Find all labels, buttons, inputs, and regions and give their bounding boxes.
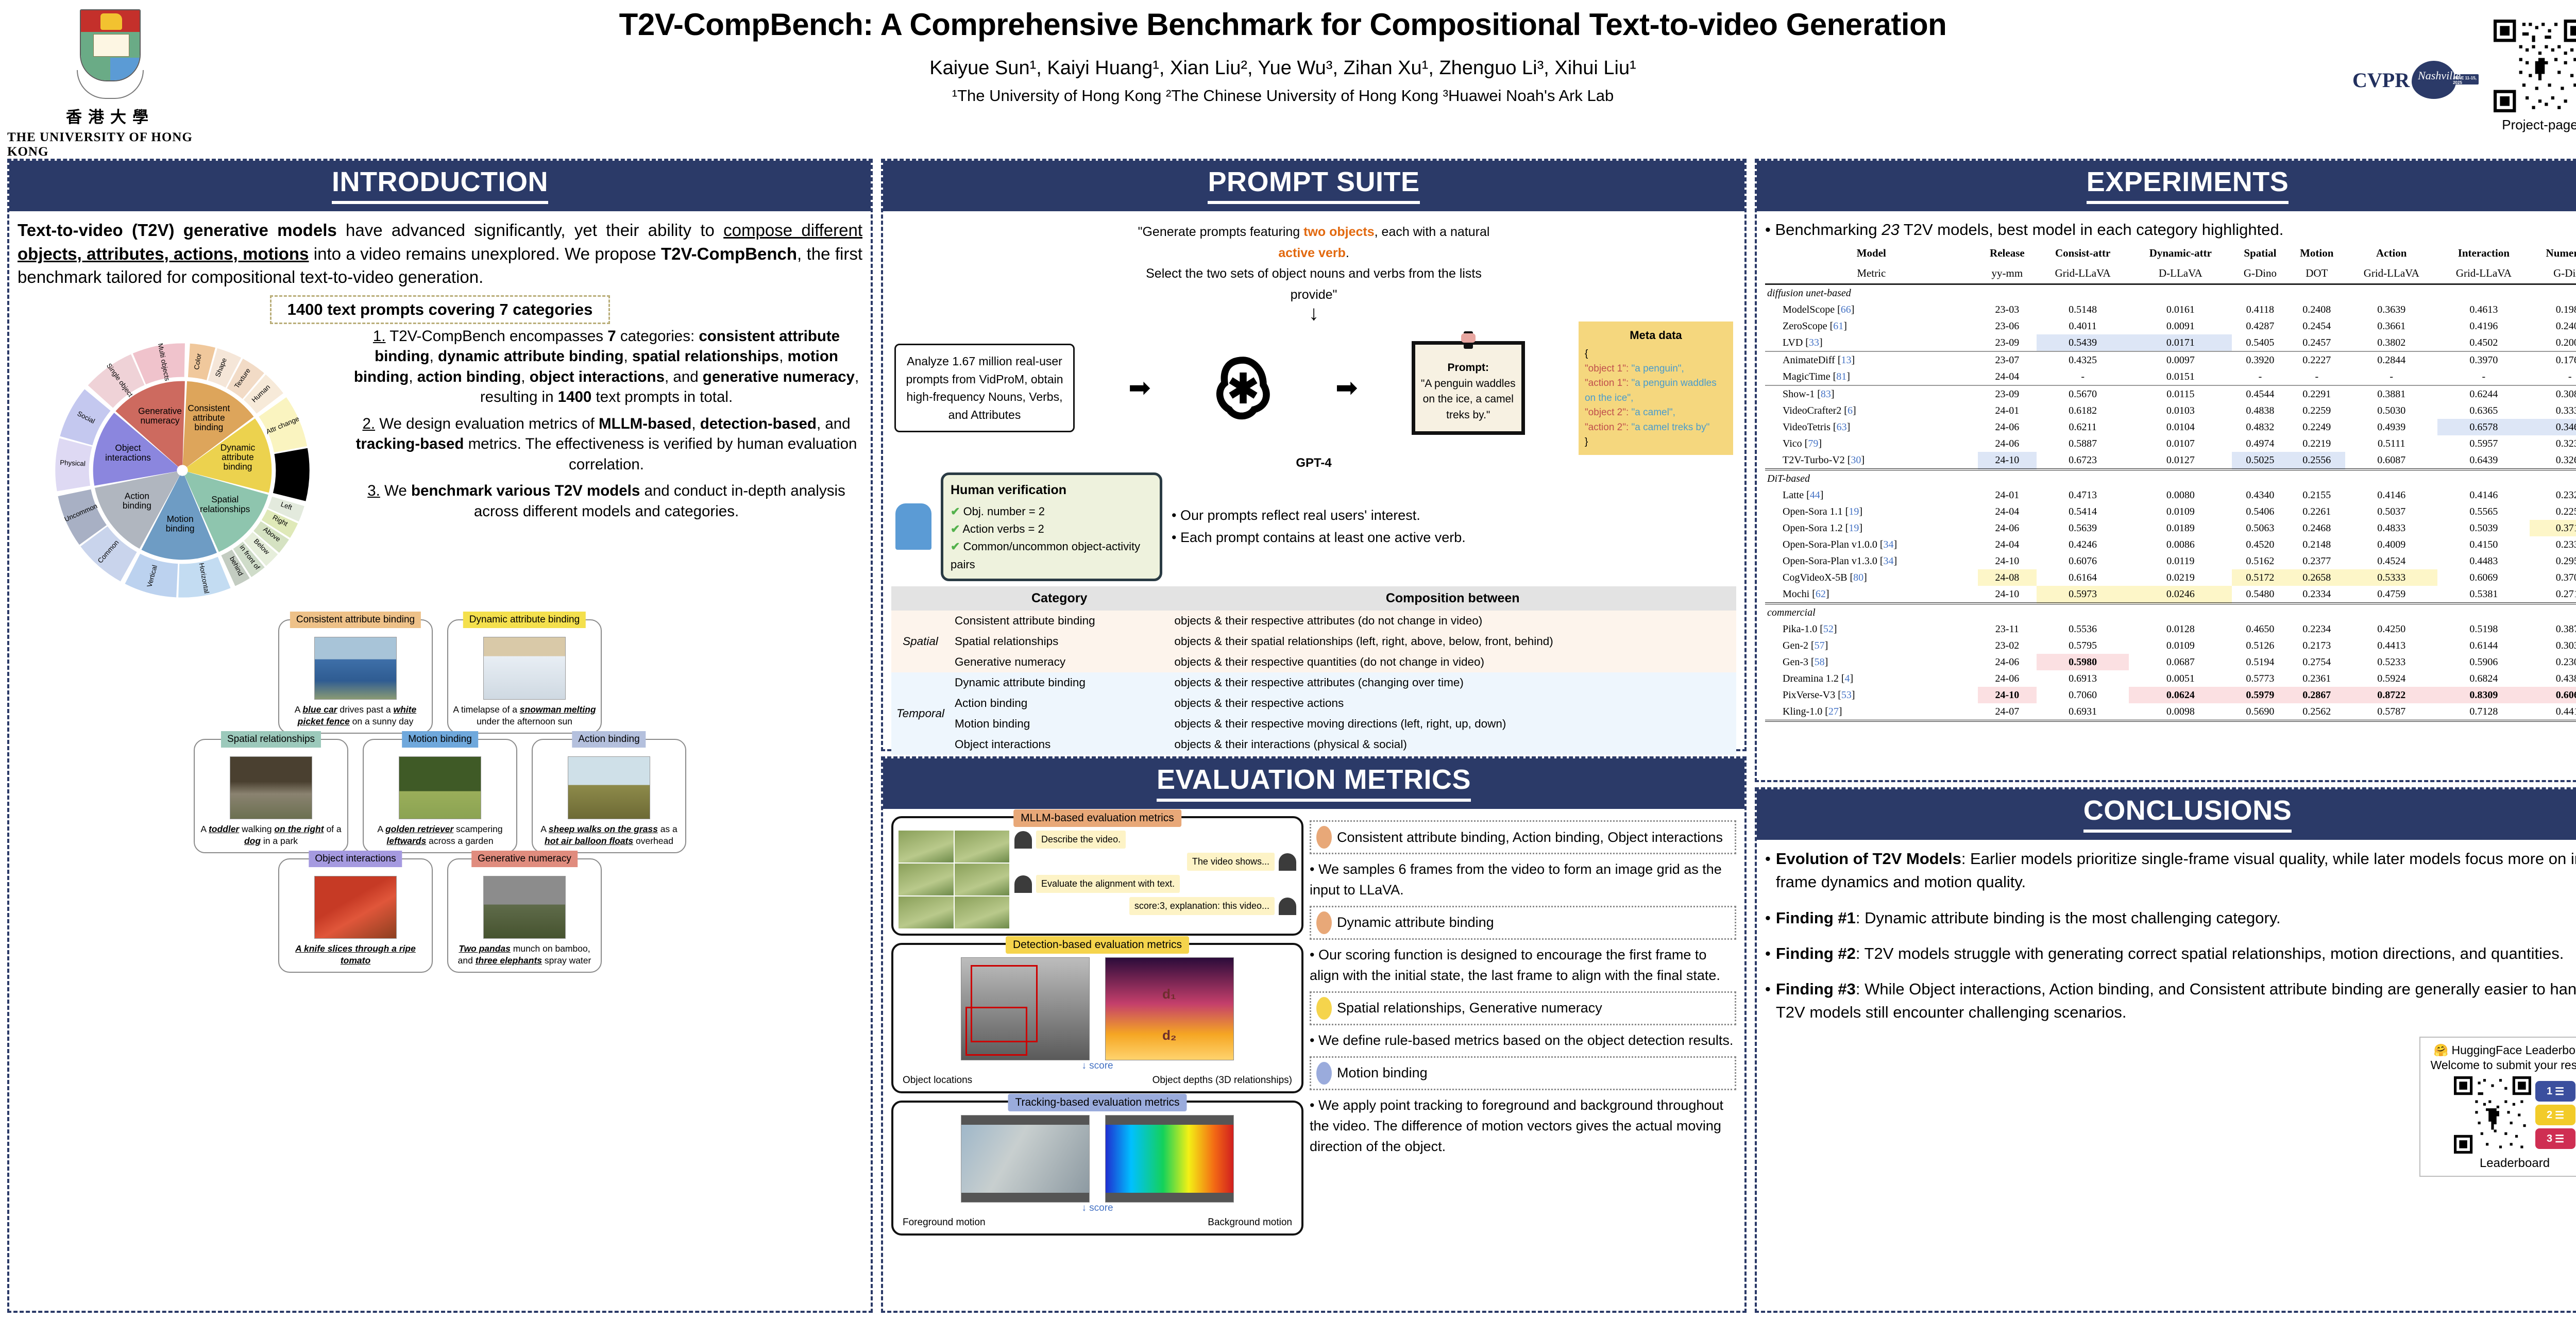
table-cell-score: 0.6931 — [2037, 703, 2129, 721]
example-card: Motion binding A golden retriever scampe… — [363, 739, 517, 853]
example-card-image — [314, 876, 397, 939]
table-cell-model: Vico [79] — [1765, 435, 1978, 452]
table-cell-score: - — [2037, 368, 2129, 385]
table-cell-model: VideoCrafter2 [6] — [1765, 402, 1978, 419]
table-cell-score: 0.3970 — [2437, 351, 2530, 368]
table-cell-category: Dynamic attribute binding — [950, 672, 1169, 693]
prompt-card-text: "A penguin waddles on the ice, a camel t… — [1420, 376, 1516, 423]
chat-bubble: Evaluate the alignment with text. — [1036, 875, 1180, 893]
table-row: SpatialConsistent attribute bindingobjec… — [891, 611, 1736, 631]
table-cell-score: 0.2219 — [2288, 435, 2345, 452]
depth-label-d2: d₂ — [1162, 1027, 1176, 1043]
metric-name: Metric — [1765, 263, 1978, 284]
metric-name: DOT — [2288, 263, 2345, 284]
section-experiments: EXPERIMENTS • Benchmarking 23 T2V models… — [1755, 159, 2576, 782]
table-cell-score: 0.0119 — [2129, 553, 2232, 569]
table-cell-composition: objects & their respective actions — [1169, 693, 1736, 714]
table-cell-score: 0.6182 — [2037, 402, 2129, 419]
column-header: Spatial — [2232, 243, 2288, 263]
example-card-tag: Consistent attribute binding — [290, 612, 421, 628]
leaderboard-card[interactable]: 🤗 HuggingFace Leaderboard: Welcome to su… — [2419, 1037, 2576, 1177]
verify-item-label-2: Action verbs = 2 — [962, 522, 1044, 535]
table-cell-score: 0.8309 — [2437, 687, 2530, 703]
table-cell-score: 0.3086 — [2530, 385, 2576, 402]
evaluation-metrics-header: EVALUATION METRICS — [883, 758, 1744, 809]
intro-middle-row: ConsistentattributebindingDynamicattribu… — [18, 326, 862, 617]
table-group-label: Temporal — [891, 672, 950, 755]
reference-number: 57 — [1815, 640, 1825, 651]
category-composition-table: Category Composition between SpatialCons… — [891, 586, 1736, 755]
table-cell-score: 0.1986 — [2530, 301, 2576, 318]
table-cell-score: 0.5333 — [2345, 569, 2437, 586]
benchmark-results-table: ModelReleaseConsist-attrDynamic-attrSpat… — [1765, 243, 2576, 722]
table-cell-score: 0.6087 — [2345, 452, 2437, 469]
verify-item-label-3: Common/uncommon object-activity pairs — [951, 540, 1140, 570]
table-cell-score: 0.5773 — [2232, 670, 2288, 687]
table-cell-score: 24-10 — [1978, 553, 2037, 569]
table-cell-score: 0.2658 — [2288, 569, 2345, 586]
table-cell-score: 0.2261 — [2288, 503, 2345, 520]
table-cell-score: 0.2291 — [2288, 385, 2345, 402]
meta-value: "a penguin", — [1632, 363, 1684, 374]
caption-background-motion: Background motion — [1208, 1217, 1292, 1228]
human-verification-card: Human verification ✔ Obj. number = 2 ✔ A… — [941, 472, 1162, 581]
table-cell-score: 0.3330 — [2530, 402, 2576, 419]
table-cell-score: 0.6824 — [2437, 670, 2530, 687]
example-card-tag: Dynamic attribute binding — [463, 612, 586, 628]
table-group-label: diffusion unet-based — [1765, 284, 2576, 302]
reference-number: 62 — [1816, 588, 1826, 600]
meta-value: "a camel", — [1632, 407, 1675, 418]
table-cell-score: 0.6578 — [2437, 419, 2530, 435]
frame-grid-image — [899, 831, 1009, 928]
qr-code-icon[interactable] — [2494, 20, 2576, 112]
table-group-label: Spatial — [891, 611, 950, 672]
hku-logo: 香港大學 THE UNIVERSITY OF HONG KONG — [7, 4, 213, 159]
table-cell-score: 24-08 — [1978, 569, 2037, 586]
table-cell-score: 0.0109 — [2129, 503, 2232, 520]
hku-name-english: THE UNIVERSITY OF HONG KONG — [7, 130, 213, 159]
conclusion-text: Evolution of T2V Models: Earlier models … — [1776, 847, 2576, 894]
cvpr-date-label: JUNE 11-15, 2025 — [2453, 76, 2479, 85]
reference-number: 63 — [1837, 421, 1847, 433]
reference-number: 80 — [1853, 572, 1863, 583]
table-cell-model: T2V-Turbo-V2 [30] — [1765, 452, 1978, 469]
caption-foreground-motion: Foreground motion — [903, 1217, 986, 1228]
table-row: Object interactionsobjects & their inter… — [891, 734, 1736, 755]
reference-number: 4 — [1845, 673, 1850, 684]
example-card-caption: A golden retriever scampering leftwards … — [368, 823, 512, 847]
table-cell-score: 24-06 — [1978, 520, 2037, 536]
bullet-text-a: Benchmarking — [1775, 221, 1882, 239]
example-card-image — [399, 756, 481, 819]
table-row: Pika-1.0 [52]23-110.55360.01280.46500.22… — [1765, 621, 2576, 637]
quote-highlight-verb: active verb — [1278, 246, 1346, 260]
table-row: AnimateDiff [13]23-070.43250.00970.39200… — [1765, 351, 2576, 368]
poster-root: 香港大學 THE UNIVERSITY OF HONG KONG T2V-Com… — [0, 0, 2576, 1319]
table-cell-score: 0.2754 — [2288, 654, 2345, 670]
example-card-caption: Two pandas munch on bamboo, and three el… — [452, 943, 597, 967]
table-cell-score: 0.4325 — [2037, 351, 2129, 368]
chat-bubble: The video shows... — [1187, 853, 1275, 871]
leaderboard-title-line1: HuggingFace Leaderboard: — [2451, 1043, 2576, 1057]
table-row: MagicTime [81]24-04-0.0151----- — [1765, 368, 2576, 385]
prompt-count-badge: 1400 text prompts covering 7 categories — [270, 295, 610, 324]
chat-bubbles: Describe the video. The video shows... E… — [1014, 831, 1296, 928]
category-color-dot — [1316, 997, 1332, 1020]
column-header: Action — [2345, 243, 2437, 263]
cvpr-logo: CVPR Nashville JUNE 11-15, 2025 — [2352, 20, 2486, 99]
table-cell-score: 0.3261 — [2530, 452, 2576, 469]
table-cell-score: 0.4118 — [2232, 301, 2288, 318]
intro-underline-1: compose different — [723, 221, 862, 240]
section-evaluation-metrics: EVALUATION METRICS MLLM-based evaluation… — [881, 756, 1747, 1313]
table-cell-score: 0.3230 — [2530, 435, 2576, 452]
caption-object-locations: Object locations — [903, 1075, 972, 1086]
table-cell-score: 0.2844 — [2345, 351, 2437, 368]
table-cell-score: 24-06 — [1978, 419, 2037, 435]
reference-number: 83 — [1821, 388, 1831, 400]
sunburst-inner-label: Generativenumeracy — [138, 405, 182, 426]
table-cell-score: 0.6164 — [2037, 569, 2129, 586]
metric-category-pill: Motion binding — [1310, 1056, 1736, 1090]
conclusion-label: Finding #2 — [1776, 944, 1856, 962]
category-color-dot — [1316, 826, 1332, 849]
category-sunburst-chart: ConsistentattributebindingDynamicattribu… — [18, 326, 347, 617]
table-cell-score: 0.2718 — [2530, 586, 2576, 603]
list-item: 3. We benchmark various T2V models and c… — [350, 481, 862, 521]
hku-name-chinese: 香港大學 — [66, 104, 155, 127]
table-cell-model: Latte [44] — [1765, 487, 1978, 503]
table-cell-score: 0.6723 — [2037, 452, 2129, 469]
metric-bullet: • We samples 6 frames from the video to … — [1310, 859, 1736, 901]
table-cell-score: 0.4544 — [2232, 385, 2288, 402]
table-cell-score: 0.5148 — [2037, 301, 2129, 318]
table-cell-score: 23-02 — [1978, 637, 2037, 654]
meta-data-lines: "object 1": "a penguin","action 1": "a p… — [1585, 362, 1727, 435]
chat-bubble: Describe the video. — [1036, 831, 1126, 849]
example-card-tag: Motion binding — [402, 731, 478, 748]
table-cell-score: 0.3467 — [2530, 419, 2576, 435]
medal-rank-1: 1☰ — [2535, 1081, 2575, 1102]
mllm-chat-demo: Describe the video. The video shows... E… — [899, 831, 1296, 928]
table-cell-category: Generative numeracy — [950, 652, 1169, 672]
reference-number: 27 — [1828, 706, 1839, 717]
table-cell-score: 0.5111 — [2345, 435, 2437, 452]
check-icon: ✔ — [951, 505, 960, 518]
table-row: Open-Sora 1.1 [19]24-040.54140.01090.540… — [1765, 503, 2576, 520]
table-row: LVD [33]23-090.54390.01710.54050.24570.3… — [1765, 334, 2576, 351]
medal-label-2: 2 — [2547, 1109, 2552, 1121]
table-cell-score: 0.2457 — [2288, 334, 2345, 351]
example-card-image — [568, 756, 650, 819]
prompt-suite-title: PROMPT SUITE — [1208, 166, 1419, 204]
table-cell-score: 0.4246 — [2037, 536, 2129, 553]
table-cell-score: 0.4613 — [2437, 301, 2530, 318]
table-group-label: DiT-based — [1765, 469, 2576, 487]
table-cell-score: 0.5980 — [2037, 654, 2129, 670]
tracking-metrics-card: Tracking-based evaluation metrics ↓ scor… — [891, 1101, 1303, 1236]
example-card-caption: A toddler walking on the right of a dog … — [199, 823, 343, 847]
table-cell-score: 0.0097 — [2129, 351, 2232, 368]
table-cell-model: Open-Sora-Plan v1.0.0 [34] — [1765, 536, 1978, 553]
meta-data-line: "object 2": "a camel", — [1585, 405, 1727, 420]
conclusions-title: CONCLUSIONS — [2083, 794, 2292, 833]
table-cell-score: 24-04 — [1978, 536, 2037, 553]
bullet-icon: • — [1765, 906, 1771, 929]
reference-number: 61 — [1833, 320, 1843, 332]
table-cell-score: 0.5924 — [2345, 670, 2437, 687]
table-cell-score: 0.6069 — [2437, 569, 2530, 586]
example-card-image — [314, 637, 397, 700]
table-cell-composition: objects & their respective attributes (c… — [1169, 672, 1736, 693]
table-cell-model: Mochi [62] — [1765, 586, 1978, 603]
table-cell-score: 0.6144 — [2437, 637, 2530, 654]
human-verification-title: Human verification — [951, 480, 1153, 500]
table-cell-score: 0.5906 — [2437, 654, 2530, 670]
reference-number: 34 — [1884, 555, 1894, 567]
project-page-qr-block[interactable]: Project-page — [2494, 20, 2576, 133]
table-cell-score: 0.4340 — [2232, 487, 2288, 503]
table-cell-score: 0.5162 — [2232, 553, 2288, 569]
metric-name: Grid-LLaVA — [2345, 263, 2437, 284]
table-row: Gen-3 [58]24-060.59800.06870.51940.27540… — [1765, 654, 2576, 670]
table-cell-score: 0.5565 — [2437, 503, 2530, 520]
leaderboard-qr-row: 1☰ 2☰ 3☰ — [2425, 1076, 2576, 1154]
arrow-right-icon-2: ➡ — [1335, 375, 1358, 401]
table-cell-score: 24-10 — [1978, 586, 2037, 603]
table-group-row: DiT-based — [1765, 469, 2576, 487]
prompt-suite-header: PROMPT SUITE — [883, 161, 1744, 211]
chat-bubble: score:3, explanation: this video... — [1129, 897, 1275, 915]
example-card-row: Object interactions A knife slices throu… — [18, 858, 862, 973]
table-metric-row: Metricyy-mmGrid-LLaVAD-LLaVAG-DinoDOTGri… — [1765, 263, 2576, 284]
category-color-dot — [1316, 1062, 1332, 1085]
table-cell-score: 0.6076 — [2037, 553, 2129, 569]
table-cell-score: 0.0246 — [2129, 586, 2232, 603]
leaderboard-title: 🤗 HuggingFace Leaderboard: Welcome to su… — [2425, 1043, 2576, 1074]
table-row: Gen-2 [57]23-020.57950.01090.51260.21730… — [1765, 637, 2576, 654]
analyze-prompts-box: Analyze 1.67 million real-user prompts f… — [894, 344, 1075, 432]
item-number-3: 3. — [367, 482, 380, 499]
example-card: Object interactions A knife slices throu… — [278, 858, 433, 973]
evaluation-metrics-body: MLLM-based evaluation metrics Describe t… — [883, 809, 1744, 1311]
table-cell-score: 0.5063 — [2232, 520, 2288, 536]
table-row: Dreamina 1.2 [4]24-060.69130.00510.57730… — [1765, 670, 2576, 687]
human-verification-row: Human verification ✔ Obj. number = 2 ✔ A… — [891, 472, 1736, 581]
table-cell-score: 0.4250 — [2345, 621, 2437, 637]
table-cell-score: 0.5973 — [2037, 586, 2129, 603]
table-cell-score: 0.4524 — [2345, 553, 2437, 569]
table-cell-score: - — [2345, 368, 2437, 385]
metric-name: G-Dino — [2232, 263, 2288, 284]
table-cell-score: 23-07 — [1978, 351, 2037, 368]
table-row: TemporalDynamic attribute bindingobjects… — [891, 672, 1736, 693]
table-cell-model: ZeroScope [61] — [1765, 318, 1978, 334]
table-row: Open-Sora-Plan v1.0.0 [34]24-040.42460.0… — [1765, 536, 2576, 553]
table-cell-score: 23-11 — [1978, 621, 2037, 637]
reference-number: 66 — [1841, 304, 1851, 315]
table-row: Show-1 [83]23-090.56700.01150.45440.2291… — [1765, 385, 2576, 402]
meta-brace-open: { — [1585, 347, 1727, 362]
meta-key: "action 1": — [1585, 378, 1629, 388]
meta-key: "object 2": — [1585, 407, 1629, 418]
table-cell-score: 0.2155 — [2288, 487, 2345, 503]
column-middle: PROMPT SUITE "Generate prompts featuring… — [881, 159, 1747, 1313]
table-cell-category: Object interactions — [950, 734, 1169, 755]
table-cell-category: Consistent attribute binding — [950, 611, 1169, 631]
down-arrow-icon: ↓ — [891, 307, 1736, 319]
table-cell-score: 24-04 — [1978, 368, 2037, 385]
background-motion-film — [1105, 1115, 1234, 1203]
table-cell-score: 0.5639 — [2037, 520, 2129, 536]
check-icon: ✔ — [951, 540, 960, 553]
reference-number: 30 — [1851, 454, 1861, 466]
introduction-paragraph: Text-to-video (T2V) generative models ha… — [18, 218, 862, 289]
conclusion-text: Finding #1: Dynamic attribute binding is… — [1776, 906, 2281, 929]
table-cell-model: Dreamina 1.2 [4] — [1765, 670, 1978, 687]
generated-prompt-card: Prompt: "A penguin waddles on the ice, a… — [1412, 341, 1525, 435]
bullet-label-1: Our prompts reflect real users' interest… — [1180, 508, 1420, 523]
sunburst-svg: ConsistentattributebindingDynamicattribu… — [18, 326, 347, 615]
meta-data-note: Meta data { "object 1": "a penguin","act… — [1579, 322, 1733, 455]
score-label: score — [1089, 1203, 1113, 1213]
table-row: ModelScope [66]23-030.51480.01610.41180.… — [1765, 301, 2576, 318]
table-cell-score: 0.3661 — [2345, 318, 2437, 334]
experiments-bullet: • Benchmarking 23 T2V models, best model… — [1765, 221, 2576, 239]
bullet-item: • Our prompts reflect real users' intere… — [1172, 504, 1732, 527]
chat-row-bot-2: score:3, explanation: this video... — [1014, 897, 1296, 915]
table-cell-score: 0.4838 — [2232, 402, 2288, 419]
quote-part-2: , each with a natural — [1375, 225, 1490, 239]
model-count: 23 — [1882, 221, 1899, 239]
reference-number: 34 — [1884, 539, 1894, 550]
table-cell-score: 24-01 — [1978, 487, 2037, 503]
table-row: Latte [44]24-010.47130.00800.43400.21550… — [1765, 487, 2576, 503]
table-cell-score: 0.4650 — [2232, 621, 2288, 637]
reference-number: 13 — [1841, 354, 1852, 366]
hku-crest-icon — [80, 9, 141, 98]
bullet-icon: • — [1765, 977, 1771, 1024]
bullet-icon: • — [1765, 942, 1771, 965]
evaluation-metrics-title: EVALUATION METRICS — [1157, 764, 1471, 802]
example-card-caption: A sheep walks on the grass as a hot air … — [537, 823, 681, 847]
metric-name: Grid-LLaVA — [2437, 263, 2530, 284]
generation-instruction-quote: "Generate prompts featuring two objects,… — [1123, 222, 1504, 305]
example-card-caption: A blue car drives past a white picket fe… — [283, 704, 428, 728]
metric-name: G-Dino — [2530, 263, 2576, 284]
reference-number: 53 — [1841, 689, 1852, 701]
person-avatar-icon — [895, 503, 931, 550]
table-cell-model: MagicTime [81] — [1765, 368, 1978, 385]
item-text-2: We design evaluation metrics of MLLM-bas… — [356, 415, 857, 473]
conclusions-list: •Evolution of T2V Models: Earlier models… — [1765, 847, 2576, 1024]
quote-part-1: "Generate prompts featuring — [1138, 225, 1304, 239]
table-row: Mochi [62]24-100.59730.02460.54800.23340… — [1765, 586, 2576, 603]
table-cell-score: 0.2454 — [2288, 318, 2345, 334]
reference-number: 52 — [1823, 623, 1834, 635]
metric-name: D-LLaVA — [2129, 263, 2232, 284]
reference-number: 58 — [1815, 656, 1825, 668]
table-cell-score: 0.5414 — [2037, 503, 2129, 520]
affiliation-list: ¹The University of Hong Kong ²The Chines… — [213, 87, 2352, 105]
table-cell-score: 0.4483 — [2437, 553, 2530, 569]
table-cell-score: 0.5194 — [2232, 654, 2288, 670]
table-cell-score: 0.5126 — [2232, 637, 2288, 654]
guitar-icon: Nashville JUNE 11-15, 2025 — [2412, 61, 2479, 99]
table-cell-score: 0.4939 — [2345, 419, 2437, 435]
table-cell-score: 0.8722 — [2345, 687, 2437, 703]
mllm-metrics-card: MLLM-based evaluation metrics Describe t… — [891, 816, 1303, 936]
table-cell-score: 0.0687 — [2129, 654, 2232, 670]
table-cell-score: 0.2249 — [2288, 419, 2345, 435]
table-cell-score: 0.4759 — [2345, 586, 2437, 603]
example-card-tag: Spatial relationships — [221, 731, 321, 748]
table-cell-score: 0.0624 — [2129, 687, 2232, 703]
conclusions-body: •Evolution of T2V Models: Earlier models… — [1757, 840, 2576, 1311]
example-card: Dynamic attribute binding A timelapse of… — [447, 619, 602, 734]
leaderboard-qr-icon[interactable] — [2454, 1076, 2531, 1154]
table-cell-score: 0.0086 — [2129, 536, 2232, 553]
conclusion-item: •Finding #1: Dynamic attribute binding i… — [1765, 906, 2576, 929]
pipeline-flow-row: Analyze 1.67 million real-user prompts f… — [891, 322, 1736, 455]
table-cell-model: Pika-1.0 [52] — [1765, 621, 1978, 637]
example-card: Spatial relationships A toddler walking … — [194, 739, 348, 853]
section-conclusions: CONCLUSIONS •Evolution of T2V Models: Ea… — [1755, 787, 2576, 1313]
table-cell-model: PixVerse-V3 [53] — [1765, 687, 1978, 703]
table-cell-score: 0.2008 — [2530, 334, 2576, 351]
depth-label-d1: d₁ — [1162, 986, 1176, 1002]
table-cell-score: 0.5670 — [2037, 385, 2129, 402]
eval-metrics-left: MLLM-based evaluation metrics Describe t… — [891, 816, 1303, 1305]
table-cell-score: 24-10 — [1978, 687, 2037, 703]
table-cell-composition: objects & their respective attributes (d… — [1169, 611, 1736, 631]
table-cell-model: VideoTetris [63] — [1765, 419, 1978, 435]
table-row: Generative numeracyobjects & their respe… — [891, 652, 1736, 672]
table-cell-score: 0.7060 — [2037, 687, 2129, 703]
conclusion-label: Finding #3 — [1776, 980, 1856, 998]
conclusion-label: Finding #1 — [1776, 909, 1856, 927]
table-cell-score: 0.5787 — [2345, 703, 2437, 721]
table-cell-model: Open-Sora-Plan v1.3.0 [34] — [1765, 553, 1978, 569]
table-cell-score: 23-06 — [1978, 318, 2037, 334]
category-pill-label: Spatial relationships, Generative numera… — [1337, 1000, 1602, 1016]
quote-part-3: . — [1346, 246, 1349, 260]
quote-highlight-objects: two objects — [1303, 225, 1375, 239]
table-cell-score: 0.2173 — [2288, 637, 2345, 654]
table-cell-score: 0.2556 — [2288, 452, 2345, 469]
section-prompt-suite: PROMPT SUITE "Generate prompts featuring… — [881, 159, 1747, 751]
table-cell-model: LVD [33] — [1765, 334, 1978, 351]
table-cell-model: ModelScope [66] — [1765, 301, 1978, 318]
conclusion-item: •Finding #3: While Object interactions, … — [1765, 977, 2576, 1024]
meta-brace-close: } — [1585, 435, 1727, 450]
item-text-1: T2V-CompBench encompasses 7 categories: … — [354, 328, 859, 406]
meta-data-line: "object 1": "a penguin", — [1585, 362, 1727, 377]
table-cell-score: 0.0109 — [2129, 637, 2232, 654]
reference-number: 19 — [1849, 522, 1859, 534]
object-depths-image: d₁ d₂ — [1105, 957, 1234, 1060]
table-cell-score: 0.4413 — [2345, 637, 2437, 654]
intro-bold-3: T2V-CompBench — [661, 244, 797, 263]
item-number-1: 1. — [373, 328, 386, 345]
meta-key: "object 1": — [1585, 363, 1629, 374]
caption-object-depths: Object depths (3D relationships) — [1153, 1075, 1292, 1086]
table-cell-score: 0.5795 — [2037, 637, 2129, 654]
table-cell-model: Kling-1.0 [27] — [1765, 703, 1978, 721]
medal-label-1: 1 — [2547, 1086, 2552, 1097]
table-header-row: ModelReleaseConsist-attrDynamic-attrSpat… — [1765, 243, 2576, 263]
